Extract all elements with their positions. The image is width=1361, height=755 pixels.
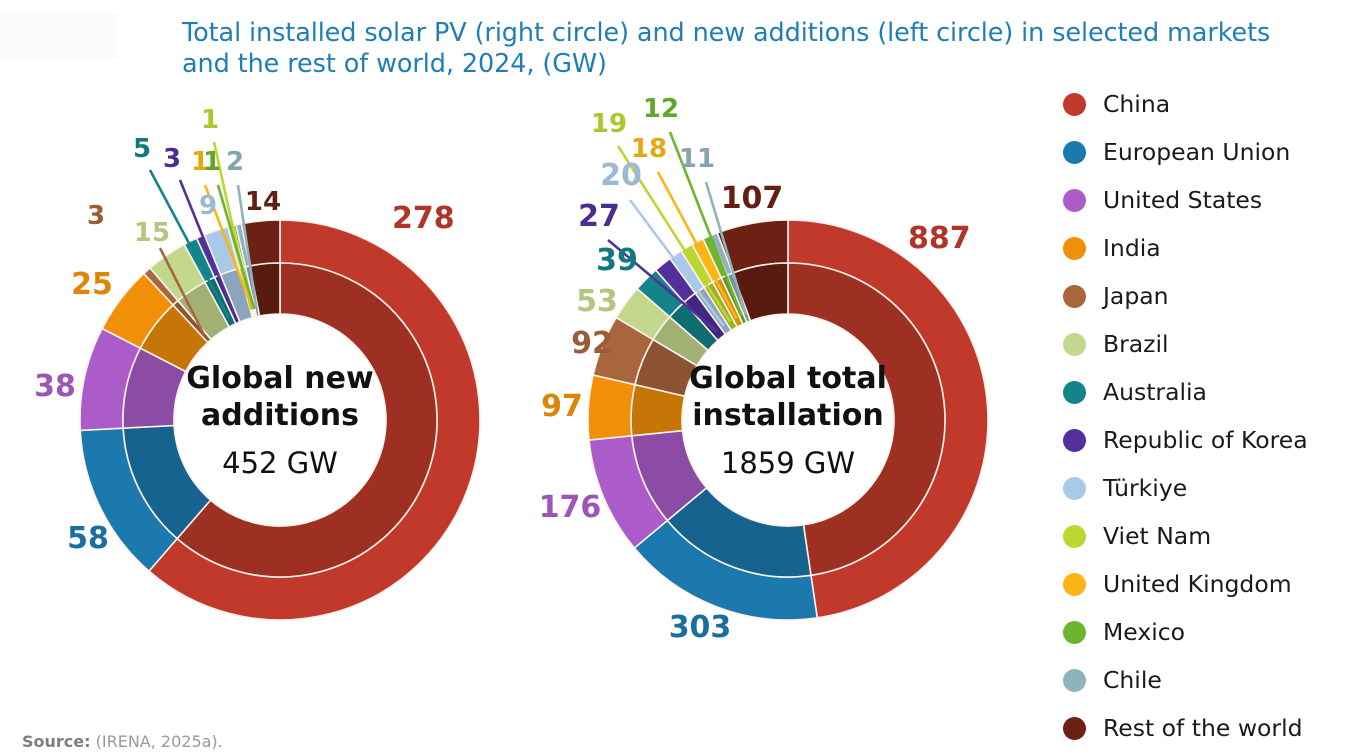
legend-item-label: Australia <box>1103 378 1207 406</box>
slice-value-label: 53 <box>576 284 618 319</box>
donut-center-title-line2: installation <box>692 398 883 433</box>
legend-item-label: Rest of the world <box>1103 714 1303 742</box>
donut-left: Global newadditions452 GW278583825315539… <box>34 105 480 620</box>
legend-item-label: Türkiye <box>1103 474 1187 502</box>
legend-item-label: China <box>1103 90 1170 118</box>
slice-value-label: 2 <box>226 147 244 177</box>
slice-value-label: 176 <box>539 490 602 525</box>
source-prefix: Source: <box>22 732 91 751</box>
legend-item[interactable]: United Kingdom <box>1063 560 1361 608</box>
legend-item-label: Viet Nam <box>1103 522 1211 550</box>
slice-value-label: 58 <box>67 521 109 556</box>
slice-value-label: 19 <box>591 109 627 139</box>
slice-value-label: 25 <box>71 267 113 302</box>
legend-item[interactable]: Viet Nam <box>1063 512 1361 560</box>
slice-value-label: 15 <box>134 218 170 248</box>
legend-item[interactable]: Australia <box>1063 368 1361 416</box>
legend-item[interactable]: Rest of the world <box>1063 704 1361 752</box>
legend-color-swatch <box>1063 573 1086 596</box>
legend-item[interactable]: China <box>1063 80 1361 128</box>
legend-color-swatch <box>1063 477 1086 500</box>
legend-item[interactable]: Republic of Korea <box>1063 416 1361 464</box>
source-note: Source: (IRENA, 2025a). <box>22 732 223 751</box>
legend-item[interactable]: Mexico <box>1063 608 1361 656</box>
slice-value-label: 92 <box>571 326 613 361</box>
slice-value-label: 97 <box>541 389 583 424</box>
legend-item-label: Republic of Korea <box>1103 426 1308 454</box>
donut-center-value: 452 GW <box>222 446 338 480</box>
donut-center-title-line1: Global new <box>186 361 373 396</box>
slice-value-label: 39 <box>596 243 638 278</box>
legend-item[interactable]: Chile <box>1063 656 1361 704</box>
legend: ChinaEuropean UnionUnited StatesIndiaJap… <box>1063 80 1361 752</box>
legend-item[interactable]: Türkiye <box>1063 464 1361 512</box>
legend-color-swatch <box>1063 189 1086 212</box>
source-text: (IRENA, 2025a). <box>96 732 223 751</box>
legend-color-swatch <box>1063 669 1086 692</box>
legend-color-swatch <box>1063 525 1086 548</box>
legend-item-label: United Kingdom <box>1103 570 1292 598</box>
legend-item-label: Japan <box>1103 282 1169 310</box>
slice-outer[interactable] <box>588 375 635 440</box>
legend-color-swatch <box>1063 381 1086 404</box>
slice-value-label: 887 <box>908 221 971 256</box>
slice-value-label: 38 <box>34 369 76 404</box>
legend-color-swatch <box>1063 237 1086 260</box>
slice-value-label: 107 <box>721 181 784 216</box>
legend-item[interactable]: India <box>1063 224 1361 272</box>
legend-color-swatch <box>1063 93 1086 116</box>
legend-color-swatch <box>1063 429 1086 452</box>
legend-item[interactable]: Japan <box>1063 272 1361 320</box>
slice-value-label: 5 <box>133 134 151 164</box>
slice-value-label: 18 <box>631 134 667 164</box>
slice-value-label: 278 <box>392 201 455 236</box>
legend-color-swatch <box>1063 333 1086 356</box>
legend-item-label: Brazil <box>1103 330 1169 358</box>
slice-value-label: 14 <box>245 187 281 217</box>
chart-page: Total installed solar PV (right circle) … <box>0 0 1361 755</box>
legend-item-label: India <box>1103 234 1161 262</box>
legend-item[interactable]: United States <box>1063 176 1361 224</box>
slice-value-label: 1 <box>203 147 221 177</box>
legend-color-swatch <box>1063 141 1086 164</box>
slice-value-label: 3 <box>87 201 105 231</box>
legend-item-label: European Union <box>1103 138 1290 166</box>
slice-value-label: 1 <box>201 105 219 135</box>
slice-value-label: 12 <box>643 94 679 124</box>
slice-value-label: 303 <box>669 610 732 645</box>
legend-item-label: United States <box>1103 186 1262 214</box>
slice-value-label: 9 <box>199 191 217 221</box>
donut-right: Global totalinstallation1859 GW887303176… <box>539 94 988 645</box>
legend-item-label: Chile <box>1103 666 1162 694</box>
slice-value-label: 11 <box>679 144 715 174</box>
legend-item-label: Mexico <box>1103 618 1185 646</box>
legend-color-swatch <box>1063 717 1086 740</box>
legend-item[interactable]: Brazil <box>1063 320 1361 368</box>
slice-value-label: 27 <box>578 199 620 234</box>
legend-color-swatch <box>1063 285 1086 308</box>
legend-color-swatch <box>1063 621 1086 644</box>
donut-center-value: 1859 GW <box>721 446 855 480</box>
legend-item[interactable]: European Union <box>1063 128 1361 176</box>
donut-center-title-line2: additions <box>201 398 359 433</box>
slice-value-label: 3 <box>163 144 181 174</box>
donut-center-title-line1: Global total <box>689 361 887 396</box>
